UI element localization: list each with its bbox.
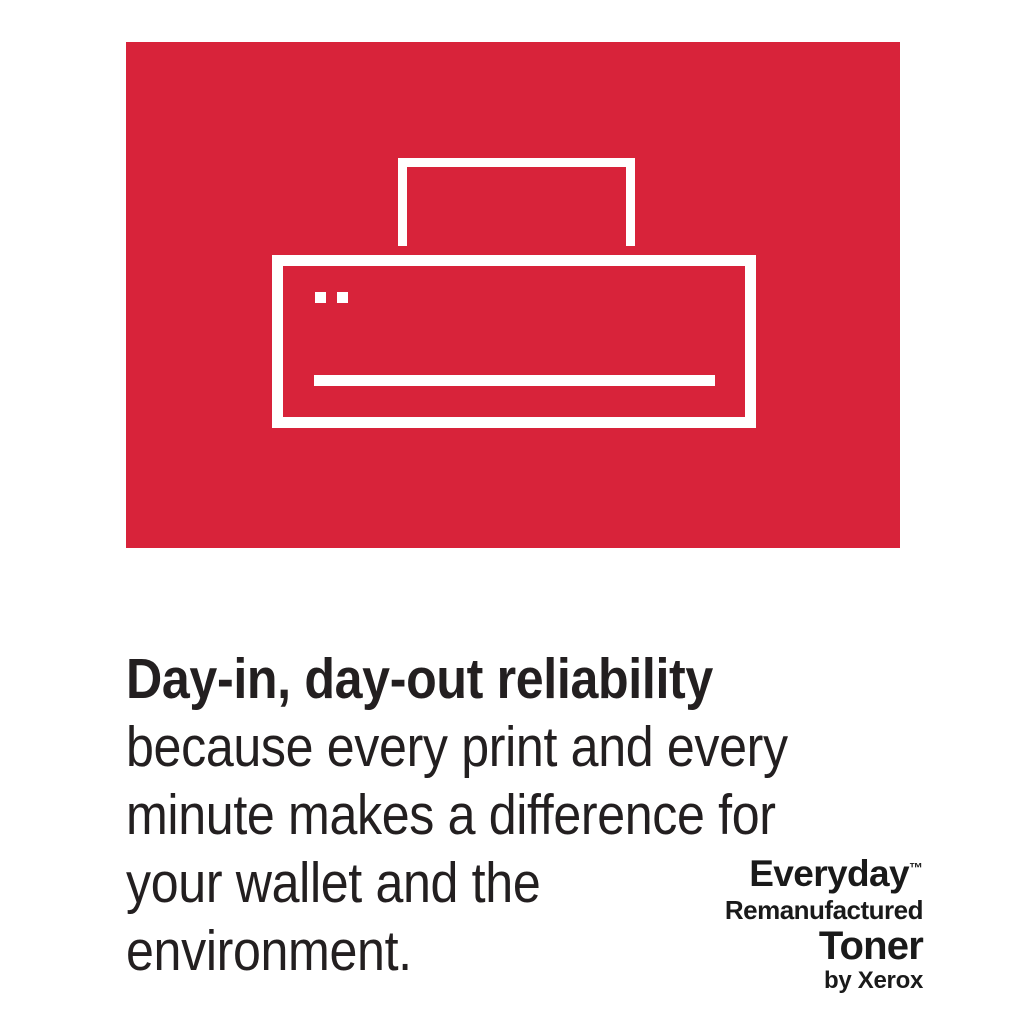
paper-tray-top	[398, 158, 635, 246]
headline-lead: Day-in, day-out reliability	[126, 647, 713, 711]
trademark-symbol: ™	[909, 860, 923, 876]
logo-product: Toner	[725, 926, 923, 966]
logo-brand-line: Everyday™	[725, 855, 923, 892]
printer-body-outline	[272, 255, 756, 428]
red-panel	[126, 42, 900, 548]
printer-icon	[126, 42, 900, 548]
indicator-light-left	[315, 292, 326, 303]
everyday-toner-logo: Everyday™ Remanufactured Toner by Xerox	[725, 855, 923, 993]
headline-rest: because every print and every minute mak…	[126, 715, 788, 983]
paper-output-slot	[314, 375, 715, 386]
advertisement-canvas: Day-in, day-out reliability because ever…	[0, 0, 1024, 1024]
logo-brand: Everyday	[749, 853, 909, 894]
indicator-light-right	[337, 292, 348, 303]
logo-byline: by Xerox	[725, 969, 923, 993]
logo-descriptor: Remanufactured	[725, 897, 923, 923]
